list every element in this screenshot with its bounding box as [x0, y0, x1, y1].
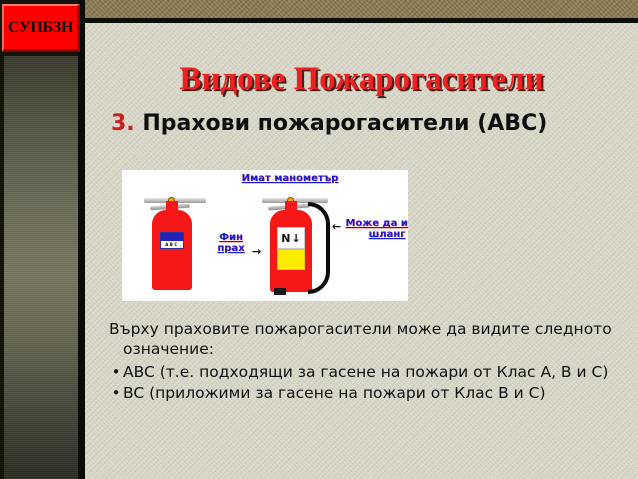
slide: СУПБЗН Видове Пожарогасители 3. Прахови … [0, 0, 638, 479]
fire-extinguisher-illustration: ABC Фин прах → Имат манометър N ↓ [122, 170, 408, 301]
arrow-right-icon-powder: → [252, 246, 261, 257]
list-item: • ABC (т.е. подходящи за гасене на пожар… [109, 362, 625, 382]
callout-fine-powder-line1: Фин [210, 232, 252, 243]
extinguisher-hose [308, 202, 330, 294]
extinguisher-right-base [274, 288, 286, 295]
abc-label-text: ABC [161, 241, 183, 249]
sidebar-gradient-band [4, 56, 78, 479]
subtitle-number: 3. [111, 111, 135, 136]
logo-label: СУПБЗН [8, 19, 73, 37]
slide-title: Видове Пожарогасители [85, 61, 638, 97]
callout-fine-powder-line2: прах [210, 243, 252, 254]
extinguisher-left-body [152, 210, 192, 290]
extinguisher-left-abc-label: ABC [160, 232, 184, 249]
callout-has-gauge: Имат манометър [227, 173, 353, 184]
sidebar-right-edge [78, 0, 85, 479]
list-item-text: ABC (т.е. подходящи за гасене на пожари … [123, 362, 625, 382]
nitrogen-label: N [281, 232, 290, 245]
list-item-text: BC (приложими за гасене на пожари от Кла… [123, 383, 625, 403]
logo-plate: СУПБЗН [2, 4, 80, 52]
bullet-marker-icon: • [109, 362, 123, 382]
slide-subtitle: 3. Прахови пожарогасители (ABC) [111, 111, 631, 136]
body-lead-paragraph: Върху праховите пожарогасители може да в… [109, 319, 625, 359]
body-text-block: Върху праховите пожарогасители може да в… [109, 319, 625, 404]
callout-may-have-hose: Може да имат шланг [342, 218, 408, 240]
left-sidebar [0, 0, 85, 479]
extinguisher-right-nitrogen-panel: N ↓ [277, 227, 305, 249]
top-khaki-band [0, 0, 638, 18]
abc-label-blue-row [161, 233, 183, 241]
arrow-down-icon-nitrogen: ↓ [292, 233, 301, 244]
callout-hose-line1: Може да имат [342, 218, 408, 229]
callout-fine-powder: Фин прах [210, 232, 252, 254]
extinguisher-right-powder-panel [277, 249, 305, 270]
bullet-marker-icon: • [109, 383, 123, 403]
arrow-left-icon-hose: ← [332, 221, 341, 232]
subtitle-text: Прахови пожарогасители (ABC) [142, 111, 547, 136]
slide-content: Видове Пожарогасители 3. Прахови пожарог… [85, 23, 638, 479]
callout-hose-line2: шланг [342, 229, 408, 240]
list-item: • BC (приложими за гасене на пожари от К… [109, 383, 625, 403]
